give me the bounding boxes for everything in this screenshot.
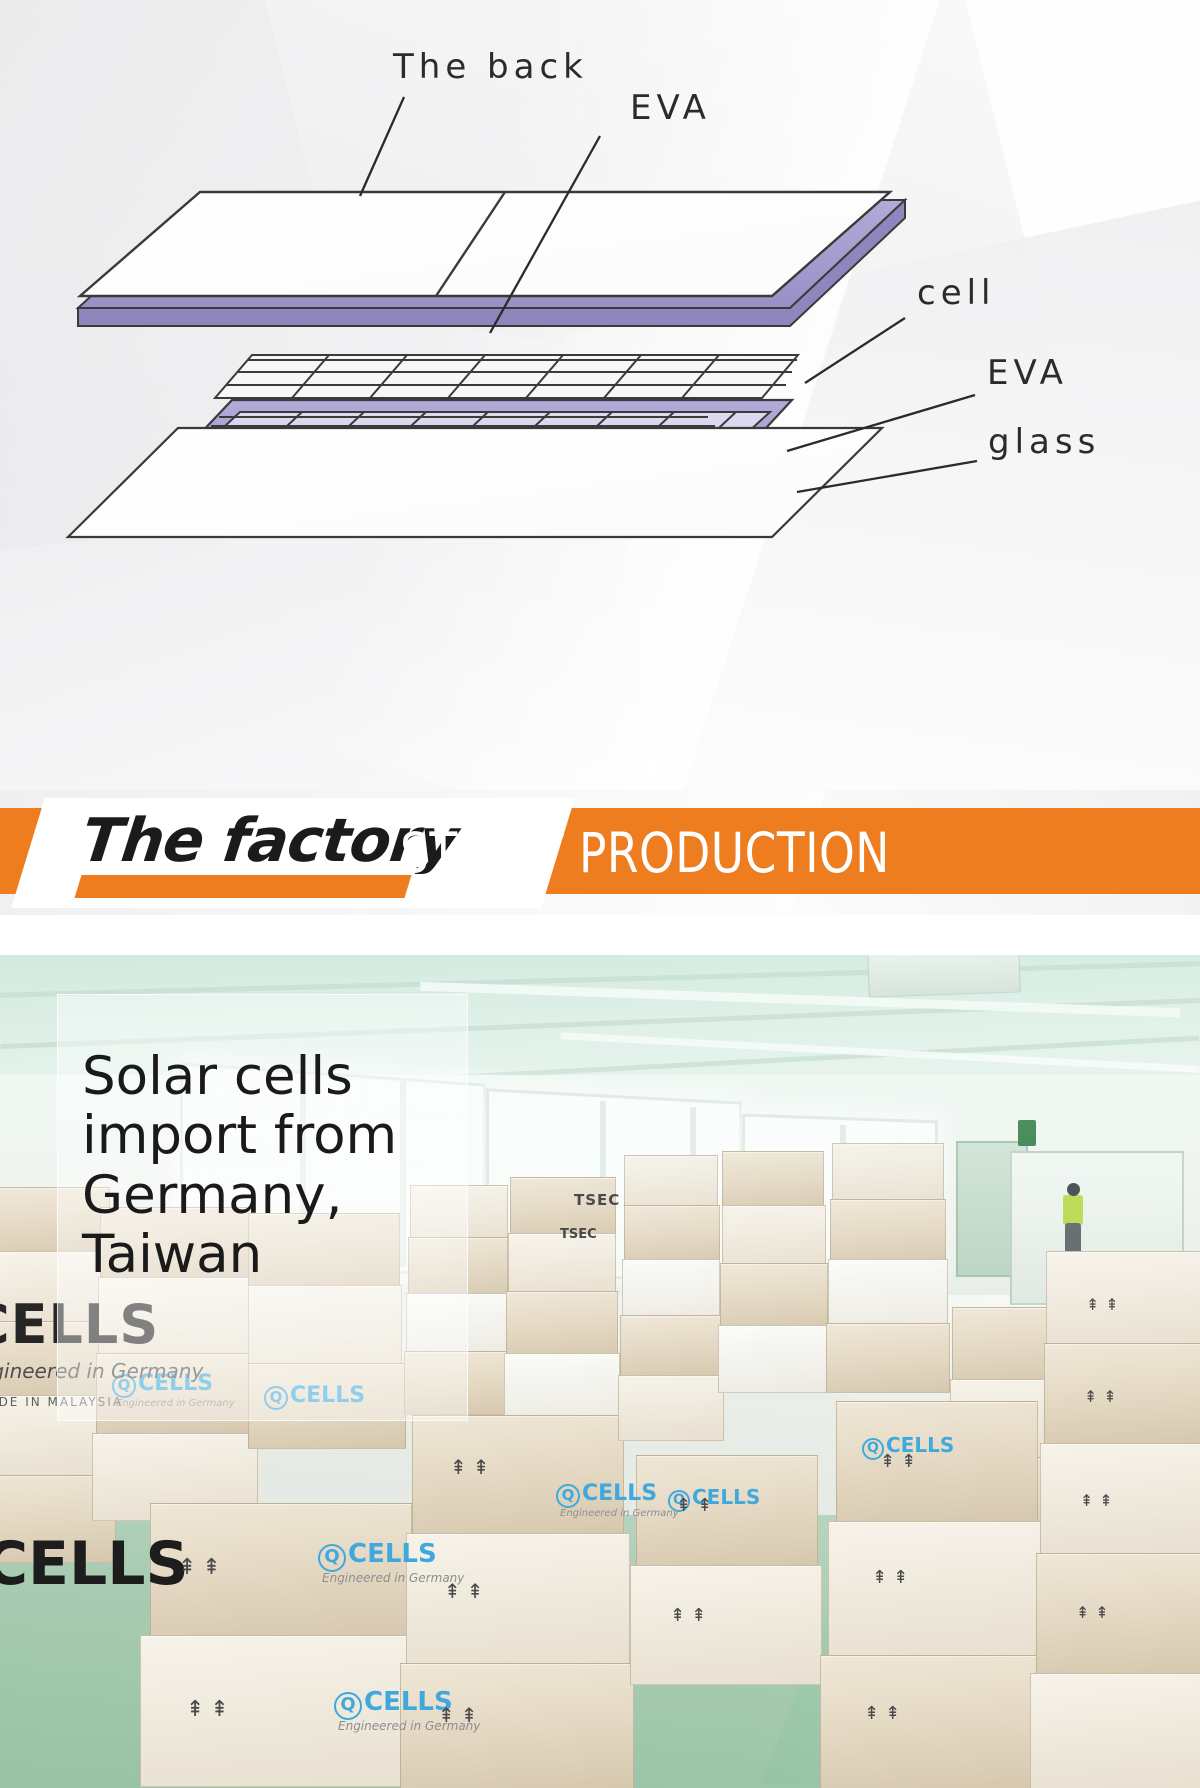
q-mark-icon: Q: [318, 1544, 346, 1572]
fragile-icon: ⇞⇞: [1076, 1603, 1115, 1622]
ac-unit: [867, 955, 1021, 998]
caption-text: Solar cells import from Germany, Taiwan: [82, 1047, 422, 1284]
carton: [832, 1143, 944, 1201]
fragile-icon: ⇞⇞: [186, 1697, 235, 1722]
carton: [718, 1325, 830, 1393]
fragile-icon: ⇞⇞: [438, 1703, 484, 1727]
carton-large: [1030, 1673, 1200, 1788]
carton-secondary-brand: TSEC: [574, 1191, 620, 1209]
carton: [618, 1375, 724, 1441]
panel-structure-diagram: The back EVA cell EVA glass: [0, 0, 1200, 790]
carton-brand-logo: QCELLS: [334, 1689, 453, 1720]
fragile-icon: ⇞⇞: [872, 1567, 914, 1588]
carton: [622, 1259, 720, 1317]
caption-line-4: Taiwan: [82, 1225, 422, 1284]
diagram-label-back: The back: [393, 47, 588, 87]
carton-secondary-brand: TSEC: [560, 1227, 597, 1242]
carton: [826, 1323, 950, 1393]
q-mark-icon: Q: [556, 1484, 580, 1508]
carton: [624, 1155, 718, 1207]
carton-large: [406, 1533, 630, 1665]
section-banner: The factory STRICT PRODUCTION: [0, 790, 1200, 915]
carton: [504, 1353, 620, 1421]
caption-line-1: Solar cells: [82, 1047, 422, 1106]
exit-sign: [1018, 1120, 1036, 1146]
carton-large: [828, 1521, 1044, 1657]
carton: [830, 1199, 946, 1261]
fragile-icon: ⇞⇞: [1080, 1491, 1119, 1510]
carton: [722, 1205, 826, 1265]
foreground-carton-brand: CELLS: [0, 1529, 189, 1599]
page-root: The back EVA cell EVA glass The factory …: [0, 0, 1200, 1788]
carton: [720, 1263, 828, 1327]
carton-large: [836, 1401, 1038, 1523]
carton: [624, 1205, 720, 1261]
carton-large: [820, 1655, 1048, 1788]
carton-large: [1036, 1553, 1200, 1675]
carton: [508, 1233, 616, 1293]
carton: [620, 1315, 722, 1377]
fragile-icon: ⇞⇞: [450, 1455, 496, 1479]
carton: [828, 1259, 948, 1325]
q-mark-icon: Q: [334, 1692, 362, 1720]
banner-headline: STRICT PRODUCTION: [400, 821, 890, 885]
fragile-icon: ⇞⇞: [1084, 1387, 1123, 1406]
carton: [506, 1291, 618, 1355]
fragile-icon: ⇞⇞: [178, 1555, 227, 1580]
panel-layers-illustration: [0, 0, 1200, 790]
diagram-label-cell: cell: [917, 273, 996, 313]
fragile-icon: ⇞⇞: [676, 1495, 718, 1516]
fragile-icon: ⇞⇞: [444, 1579, 490, 1603]
fragile-icon: ⇞⇞: [1086, 1295, 1125, 1314]
fragile-icon: ⇞⇞: [670, 1605, 712, 1626]
diagram-label-eva-bottom: EVA: [987, 353, 1068, 393]
layer-cell-strings: [215, 355, 798, 398]
carton-large: [630, 1565, 822, 1685]
carton-tagline: Engineered in Germany: [560, 1508, 679, 1519]
carton: [722, 1151, 824, 1207]
carton-brand-logo: QCELLS: [556, 1483, 657, 1508]
factory-photo: QCELLS Engineered in Germany QCELLS Engi…: [0, 955, 1200, 1788]
worker-vest: [1063, 1195, 1083, 1225]
carton-large: [1040, 1443, 1200, 1555]
fragile-icon: ⇞⇞: [864, 1703, 906, 1724]
banner-badge-underline: [74, 875, 411, 898]
caption-line-3: Germany,: [82, 1166, 422, 1225]
caption-line-2: import from: [82, 1106, 422, 1165]
fragile-icon: ⇞⇞: [880, 1451, 922, 1472]
layer-backsheet: [80, 192, 890, 296]
carton-brand-logo: QCELLS: [318, 1541, 437, 1572]
layer-glass: [68, 428, 882, 537]
diagram-label-glass: glass: [988, 422, 1100, 462]
worker-head: [1067, 1183, 1080, 1196]
diagram-label-eva-top: EVA: [630, 88, 711, 128]
